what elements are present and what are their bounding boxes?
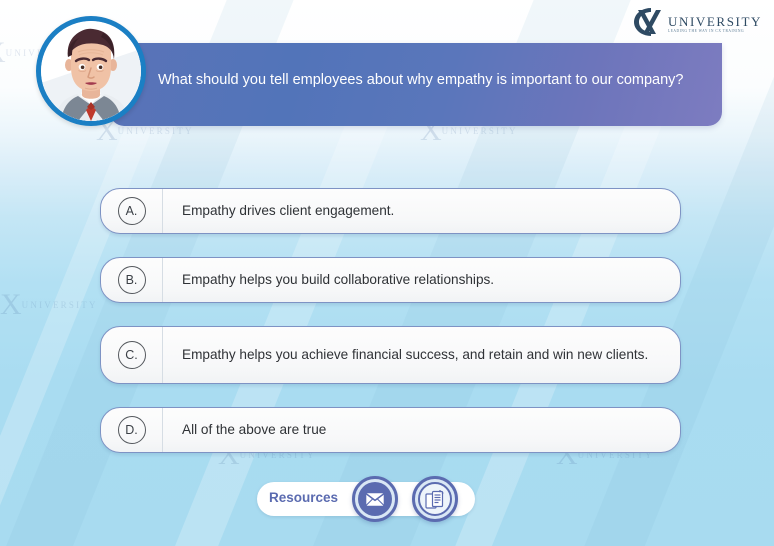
option-letter-c: C.	[118, 341, 146, 369]
brand-name: UNIVERSITY	[668, 15, 762, 28]
envelope-icon	[358, 482, 392, 516]
document-notes-icon	[418, 482, 452, 516]
answer-option-d[interactable]: D. All of the above are true	[100, 407, 681, 453]
answer-option-b[interactable]: B. Empathy helps you build collaborative…	[100, 257, 681, 303]
notes-resource-button[interactable]	[412, 476, 458, 522]
option-letter-cell: B.	[101, 258, 163, 302]
option-letter-cell: C.	[101, 327, 163, 383]
watermark-label: UNIVERSITY	[22, 300, 98, 310]
answer-option-a[interactable]: A. Empathy drives client engagement.	[100, 188, 681, 234]
answer-option-c[interactable]: C. Empathy helps you achieve financial s…	[100, 326, 681, 384]
watermark-monogram-icon: X	[0, 290, 19, 320]
xc-monogram-icon	[632, 6, 666, 38]
option-letter-d: D.	[118, 416, 146, 444]
option-letter-cell: A.	[101, 189, 163, 233]
option-letter-cell: D.	[101, 408, 163, 452]
resources-label: Resources	[269, 490, 338, 505]
option-text-d: All of the above are true	[163, 408, 680, 452]
brand-tagline: LEADING THE WAY IN CX TRAINING	[668, 30, 762, 34]
watermark-label: UNIVERSITY	[442, 126, 518, 136]
option-text-b: Empathy helps you build collaborative re…	[163, 258, 680, 302]
watermark-monogram-icon: X	[0, 38, 3, 68]
avatar	[36, 16, 146, 126]
email-resource-button[interactable]	[352, 476, 398, 522]
quiz-slide: X UNIVERSITY X UNIVERSITY X UNIVERSITY X…	[0, 0, 774, 546]
option-letter-a: A.	[118, 197, 146, 225]
brand-logo: UNIVERSITY LEADING THE WAY IN CX TRAININ…	[632, 6, 762, 38]
option-letter-b: B.	[118, 266, 146, 294]
brand-text-block: UNIVERSITY LEADING THE WAY IN CX TRAININ…	[668, 11, 762, 34]
answer-options-list: A. Empathy drives client engagement. B. …	[100, 188, 681, 476]
option-text-a: Empathy drives client engagement.	[163, 189, 680, 233]
question-text: What should you tell employees about why…	[158, 70, 684, 91]
watermark-label: UNIVERSITY	[118, 126, 194, 136]
question-banner: What should you tell employees about why…	[110, 43, 722, 126]
option-text-c: Empathy helps you achieve financial succ…	[163, 327, 680, 383]
background-watermark: X UNIVERSITY	[0, 290, 98, 320]
